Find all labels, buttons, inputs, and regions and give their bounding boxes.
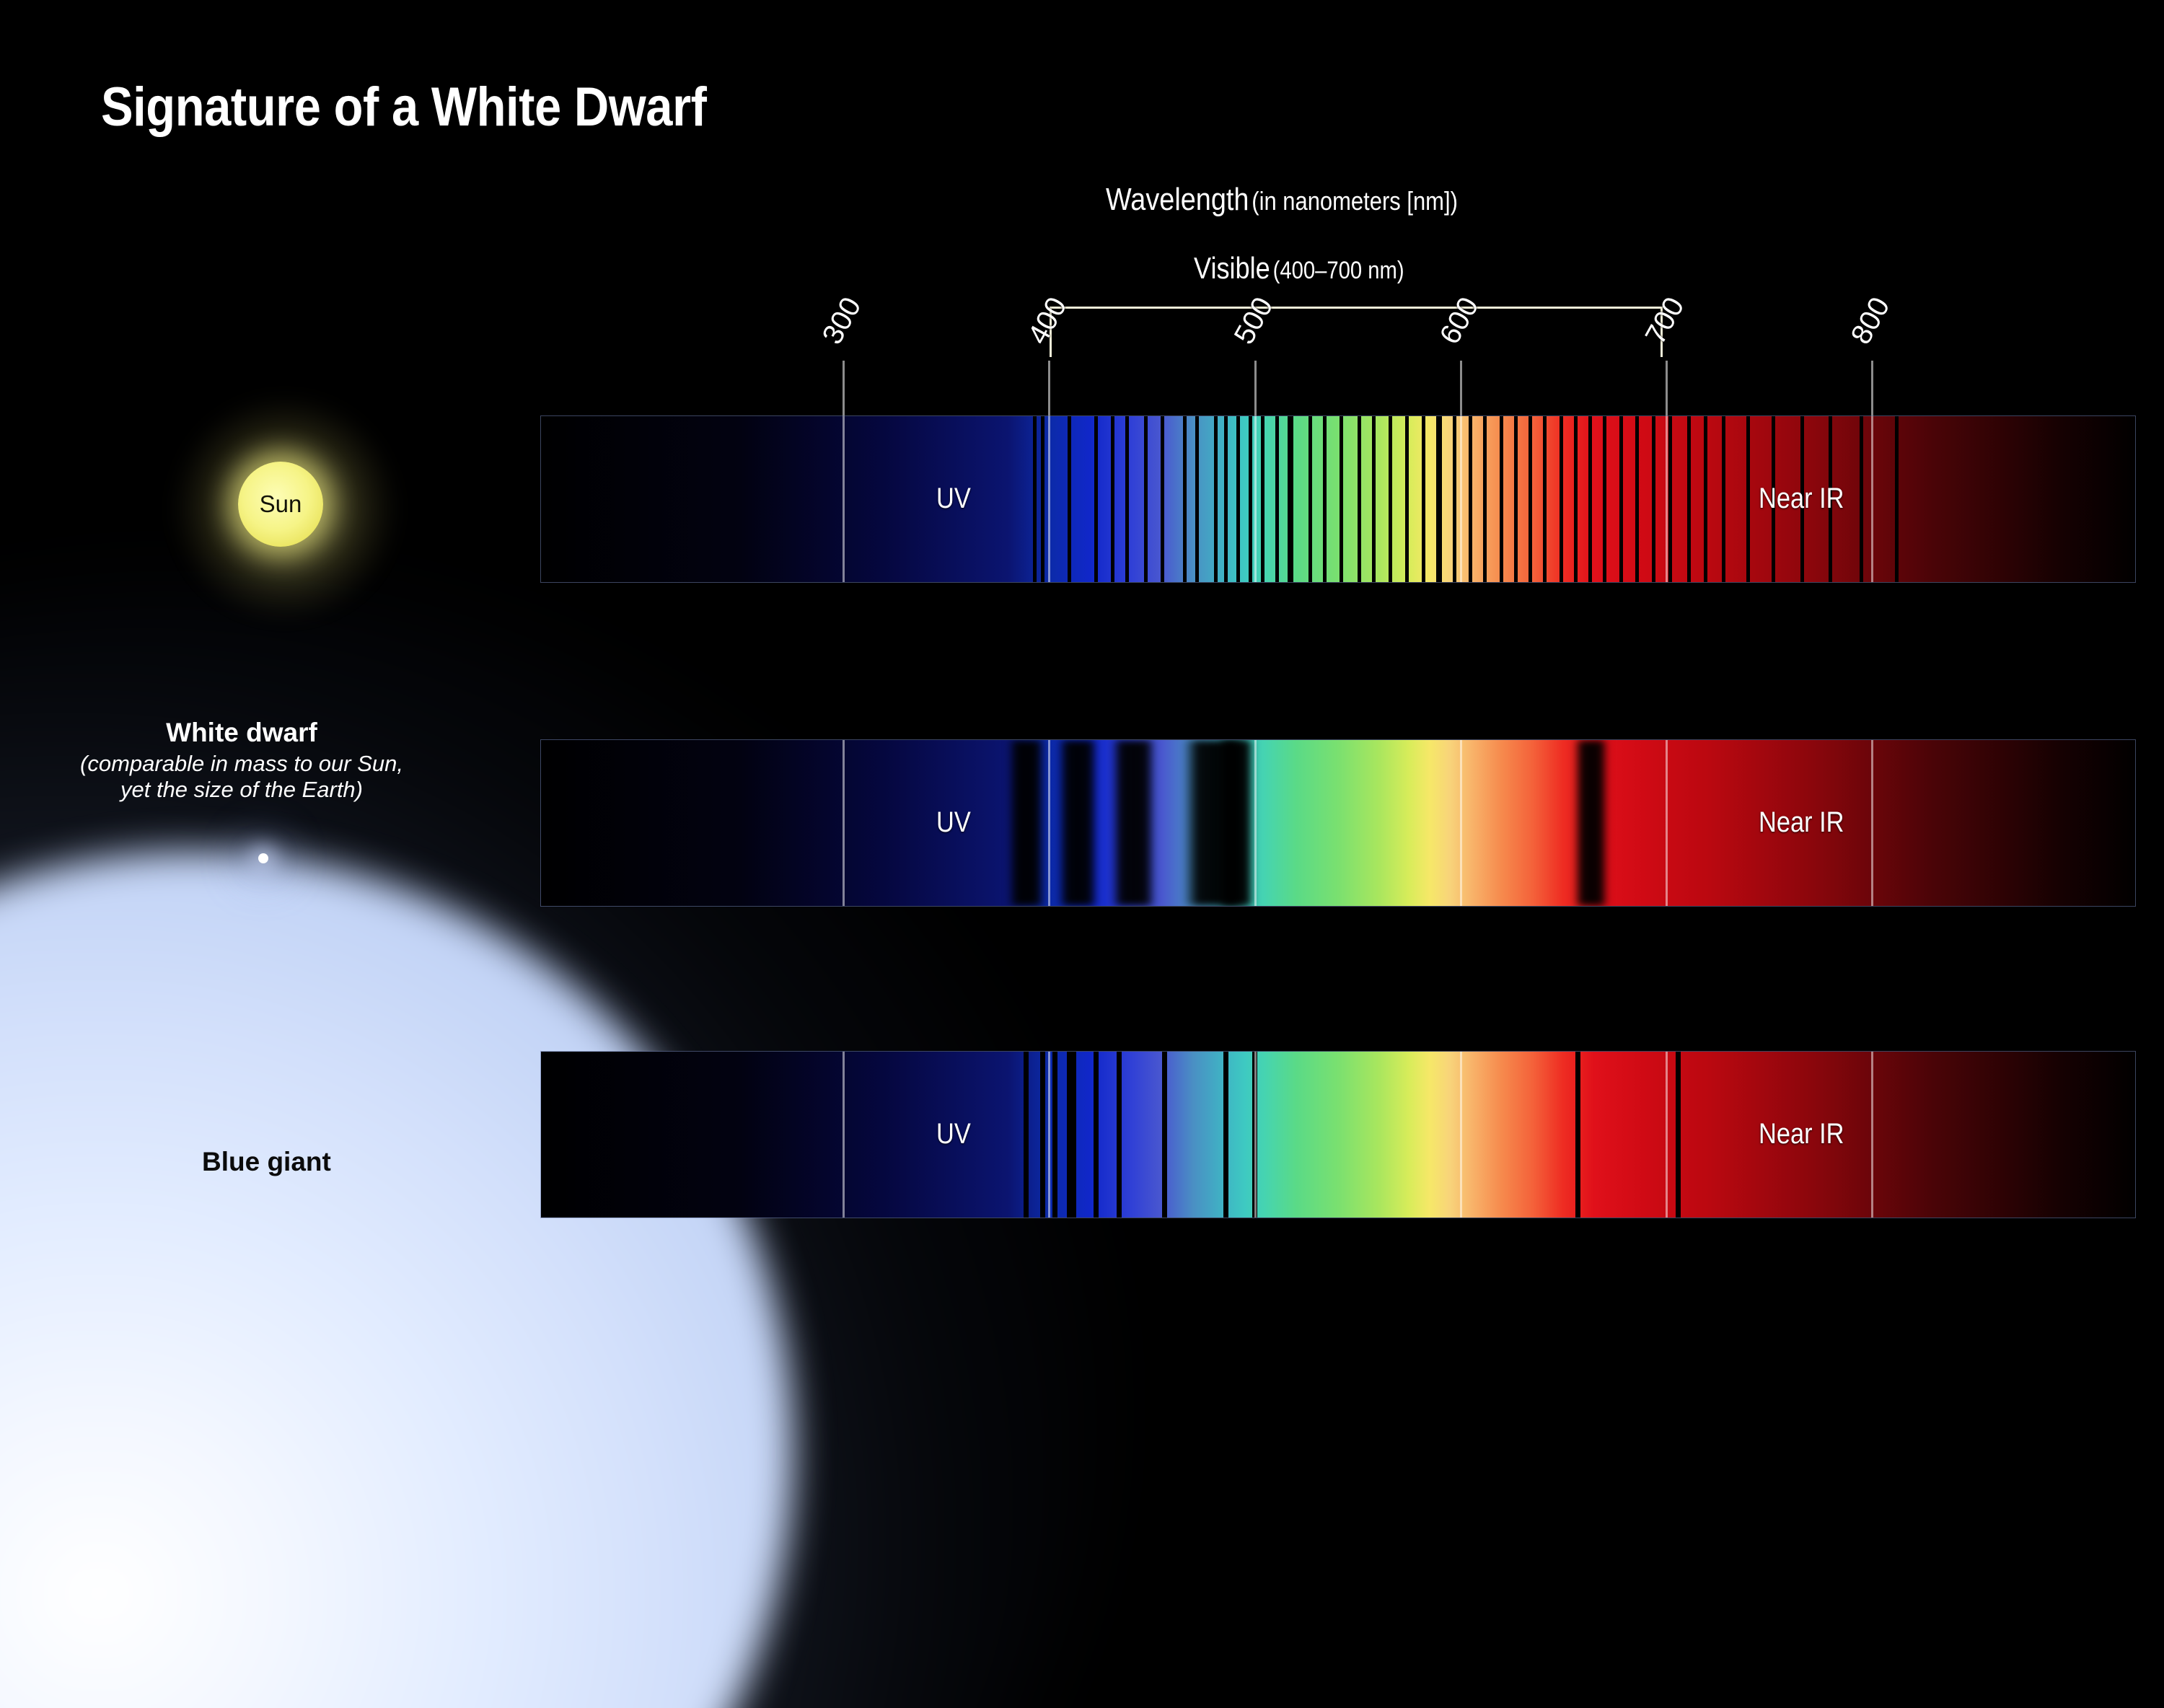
absorption-line bbox=[1052, 1052, 1057, 1218]
absorption-line bbox=[1071, 1052, 1076, 1218]
absorption-line bbox=[1619, 416, 1623, 582]
spectrum-row-sun: UVNear IR bbox=[541, 416, 2135, 582]
visible-range-header: Visible (400–700 nm) bbox=[1194, 251, 1438, 286]
absorption-line bbox=[1094, 416, 1098, 582]
absorption-line bbox=[1111, 416, 1114, 582]
absorption-line bbox=[1529, 416, 1532, 582]
absorption-line bbox=[1041, 416, 1044, 582]
absorption-line bbox=[1161, 416, 1164, 582]
absorption-line bbox=[1746, 416, 1750, 582]
absorption-line bbox=[1895, 416, 1899, 582]
blue-giant-star bbox=[0, 851, 793, 1708]
spectrum-gridline-400 bbox=[1048, 740, 1050, 906]
white-dwarf-sublabel-line1: (comparable in mass to our Sun, bbox=[50, 751, 433, 777]
absorption-line bbox=[1040, 1052, 1045, 1218]
absorption-line bbox=[1275, 416, 1279, 582]
absorption-line bbox=[1308, 416, 1312, 582]
absorption-band bbox=[1111, 740, 1156, 906]
absorption-line bbox=[1704, 416, 1707, 582]
spectrum-gridline-800 bbox=[1871, 1052, 1873, 1218]
tick-leader-300 bbox=[843, 361, 845, 418]
spectrum-gridline-700 bbox=[1666, 1052, 1668, 1218]
tick-leader-400 bbox=[1048, 361, 1050, 418]
absorption-line bbox=[1687, 416, 1691, 582]
visible-range-bracket bbox=[1050, 307, 1663, 357]
white-dwarf-sublabel: (comparable in mass to our Sun, yet the … bbox=[50, 751, 433, 804]
absorption-line bbox=[1223, 1052, 1228, 1218]
blue-giant-label: Blue giant bbox=[202, 1147, 331, 1177]
region-label-near-ir: Near IR bbox=[1759, 806, 1844, 839]
spectrum-gridline-500 bbox=[1254, 740, 1257, 906]
absorption-line bbox=[1860, 416, 1863, 582]
absorption-line bbox=[1574, 416, 1578, 582]
tick-leader-800 bbox=[1871, 361, 1873, 418]
spectrum-gridline-300 bbox=[843, 416, 845, 582]
spectrum-gridline-500 bbox=[1254, 416, 1257, 582]
absorption-line bbox=[1144, 416, 1148, 582]
absorption-line bbox=[1033, 416, 1037, 582]
absorption-line bbox=[1560, 416, 1563, 582]
white-dwarf-label-group: White dwarf (comparable in mass to our S… bbox=[50, 718, 433, 804]
spectrum-gridline-600 bbox=[1460, 1052, 1462, 1218]
tick-label-300: 300 bbox=[817, 292, 868, 350]
absorption-line bbox=[1389, 416, 1392, 582]
absorption-line bbox=[1249, 416, 1252, 582]
region-label-uv: UV bbox=[936, 806, 971, 839]
white-dwarf-star bbox=[258, 853, 268, 863]
absorption-line bbox=[1224, 416, 1228, 582]
absorption-line bbox=[1195, 416, 1199, 582]
absorption-line bbox=[1405, 416, 1409, 582]
absorption-line bbox=[1676, 1052, 1681, 1218]
absorption-line bbox=[1588, 416, 1592, 582]
spectrum-bar bbox=[541, 416, 2135, 582]
visible-header-main: Visible bbox=[1194, 251, 1270, 285]
absorption-line bbox=[1500, 416, 1503, 582]
page-title: Signature of a White Dwarf bbox=[101, 76, 706, 138]
absorption-band bbox=[1574, 740, 1609, 906]
absorption-line bbox=[1603, 416, 1606, 582]
absorption-line bbox=[1290, 416, 1293, 582]
absorption-line bbox=[1068, 416, 1071, 582]
absorption-line bbox=[1340, 416, 1343, 582]
spectrum-bar bbox=[541, 740, 2135, 906]
absorption-line bbox=[1162, 1052, 1167, 1218]
absorption-line bbox=[1214, 416, 1218, 582]
absorption-line bbox=[1183, 416, 1187, 582]
absorption-line bbox=[1469, 416, 1472, 582]
absorption-line bbox=[1543, 416, 1547, 582]
absorption-line bbox=[1575, 1052, 1580, 1218]
spectrum-gradient bbox=[541, 1052, 2135, 1218]
absorption-line bbox=[1323, 416, 1327, 582]
absorption-line bbox=[1358, 416, 1361, 582]
spectrum-bar bbox=[541, 1052, 2135, 1218]
absorption-line bbox=[1722, 416, 1725, 582]
absorption-line bbox=[1652, 416, 1655, 582]
absorption-line bbox=[1261, 416, 1264, 582]
absorption-band bbox=[1057, 740, 1099, 906]
region-label-near-ir: Near IR bbox=[1759, 483, 1844, 515]
white-dwarf-label: White dwarf bbox=[50, 718, 433, 748]
tick-leader-500 bbox=[1254, 361, 1257, 418]
visible-header-range: (400–700 nm) bbox=[1273, 257, 1404, 284]
spectrum-gridline-700 bbox=[1666, 416, 1668, 582]
tick-leader-700 bbox=[1666, 361, 1668, 418]
region-label-uv: UV bbox=[936, 483, 971, 515]
absorption-line bbox=[1453, 416, 1456, 582]
spectrum-gridline-300 bbox=[843, 1052, 845, 1218]
absorption-band bbox=[1008, 740, 1044, 906]
absorption-line bbox=[1635, 416, 1639, 582]
wavelength-header-unit: (in nanometers [nm]) bbox=[1252, 186, 1458, 216]
spectrum-gridline-800 bbox=[1871, 416, 1873, 582]
wavelength-header-main: Wavelength bbox=[1106, 182, 1249, 217]
absorption-line bbox=[1236, 416, 1240, 582]
region-label-uv: UV bbox=[936, 1118, 971, 1150]
spectrum-gridline-500 bbox=[1254, 1052, 1257, 1218]
spectrum-gridline-300 bbox=[843, 740, 845, 906]
absorption-line bbox=[1668, 416, 1672, 582]
tick-label-800: 800 bbox=[1845, 292, 1897, 350]
spectrum-gridline-600 bbox=[1460, 416, 1462, 582]
spectrum-gradient bbox=[541, 740, 2135, 906]
tick-leader-600 bbox=[1460, 361, 1462, 418]
region-label-near-ir: Near IR bbox=[1759, 1118, 1844, 1150]
white-dwarf-sublabel-line2: yet the size of the Earth) bbox=[50, 777, 433, 803]
spectrum-gridline-400 bbox=[1048, 416, 1050, 582]
absorption-line bbox=[1024, 1052, 1029, 1218]
absorption-line bbox=[1125, 416, 1129, 582]
spectrum-row-white-dwarf: UVNear IR bbox=[541, 740, 2135, 906]
spectrum-row-blue-giant: UVNear IR bbox=[541, 1052, 2135, 1218]
spectrum-gridline-800 bbox=[1871, 740, 1873, 906]
absorption-line bbox=[1117, 1052, 1122, 1218]
sun-label: Sun bbox=[238, 462, 323, 547]
infographic-canvas: Signature of a White Dwarf Wavelength (i… bbox=[0, 0, 2164, 1708]
spectrum-gridline-600 bbox=[1460, 740, 1462, 906]
absorption-line bbox=[1483, 416, 1487, 582]
absorption-line bbox=[1422, 416, 1425, 582]
absorption-line bbox=[1094, 1052, 1099, 1218]
spectrum-gridline-700 bbox=[1666, 740, 1668, 906]
absorption-line bbox=[1514, 416, 1518, 582]
absorption-line bbox=[1438, 416, 1442, 582]
wavelength-axis-header: Wavelength (in nanometers [nm]) bbox=[1106, 182, 1515, 218]
absorption-line bbox=[1372, 416, 1376, 582]
absorption-band bbox=[1218, 740, 1254, 906]
spectrum-gridline-400 bbox=[1048, 1052, 1050, 1218]
